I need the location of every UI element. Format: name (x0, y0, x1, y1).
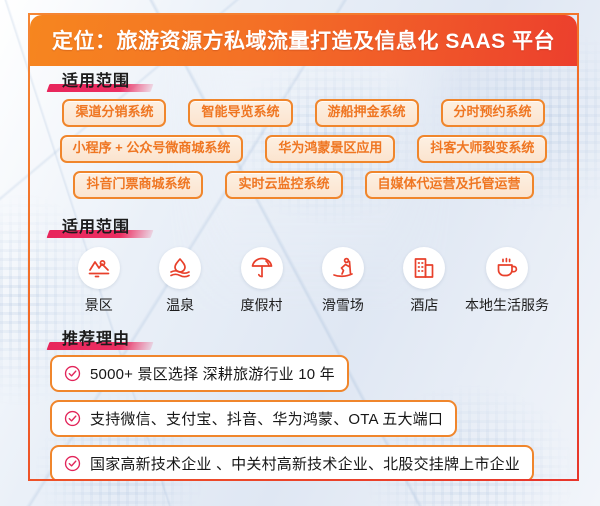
product-tag[interactable]: 智能导览系统 (188, 99, 292, 127)
skier-icon (322, 247, 364, 289)
product-tag-group: 渠道分销系统 智能导览系统 游船押金系统 分时预约系统 小程序 + 公众号微商城… (42, 99, 565, 199)
resort-parasol-icon (241, 247, 283, 289)
vertical-item-scenic-area[interactable]: 景区 (58, 247, 139, 315)
vertical-item-hot-spring[interactable]: 温泉 (139, 247, 220, 315)
product-tag[interactable]: 小程序 + 公众号微商城系统 (60, 135, 244, 163)
section-heading-label: 适用范围 (62, 73, 130, 90)
check-circle-icon (64, 410, 81, 427)
product-tag[interactable]: 抖客大师裂变系统 (417, 135, 547, 163)
product-tag[interactable]: 自媒体代运营及托管运营 (365, 171, 534, 199)
reason-text: 国家高新技术企业 、中关村高新技术企业、北股交挂牌上市企业 (90, 453, 520, 474)
vertical-icon-row: 景区 温泉 (42, 241, 565, 315)
vertical-item-label: 本地生活服务 (465, 295, 549, 315)
product-tag[interactable]: 游船押金系统 (315, 99, 419, 127)
vertical-item-label: 温泉 (166, 295, 194, 315)
section-heading-scope-products: 适用范围 (54, 67, 140, 91)
vertical-item-label: 滑雪场 (322, 295, 364, 315)
vertical-item-resort[interactable]: 度假村 (221, 247, 302, 315)
vertical-item-local-services[interactable]: 本地生活服务 (465, 247, 549, 315)
reason-item[interactable]: 5000+ 景区选择 深耕旅游行业 10 年 (50, 355, 349, 392)
section-heading-label: 推荐理由 (62, 331, 130, 348)
product-tag[interactable]: 渠道分销系统 (62, 99, 166, 127)
product-tag[interactable]: 分时预约系统 (441, 99, 545, 127)
hot-spring-icon (159, 247, 201, 289)
vertical-item-label: 度假村 (241, 295, 283, 315)
reason-text: 5000+ 景区选择 深耕旅游行业 10 年 (90, 363, 335, 384)
reason-list: 5000+ 景区选择 深耕旅游行业 10 年 支持微信、支付宝、抖音、华为鸿蒙、… (42, 355, 565, 481)
reason-item[interactable]: 支持微信、支付宝、抖音、华为鸿蒙、OTA 五大端口 (50, 400, 457, 437)
section-heading-reasons: 推荐理由 (54, 325, 140, 349)
card-body: 适用范围 渠道分销系统 智能导览系统 游船押金系统 分时预约系统 小程序 + 公… (30, 67, 577, 479)
tag-row: 抖音门票商城系统 实时云监控系统 自媒体代运营及托管运营 (42, 171, 565, 199)
vertical-item-ski-resort[interactable]: 滑雪场 (302, 247, 383, 315)
coffee-cup-icon (486, 247, 528, 289)
check-circle-icon (64, 365, 81, 382)
vertical-item-hotel[interactable]: 酒店 (384, 247, 465, 315)
product-tag[interactable]: 华为鸿蒙景区应用 (265, 135, 395, 163)
vertical-item-label: 景区 (85, 295, 113, 315)
check-circle-icon (64, 455, 81, 472)
tag-row: 小程序 + 公众号微商城系统 华为鸿蒙景区应用 抖客大师裂变系统 (42, 135, 565, 163)
main-card: 定位：旅游资源方私域流量打造及信息化 SAAS 平台 适用范围 渠道分销系统 智… (28, 13, 579, 481)
product-tag[interactable]: 抖音门票商城系统 (73, 171, 203, 199)
section-heading-scope-verticals: 适用范围 (54, 213, 140, 237)
hotel-building-icon (403, 247, 445, 289)
vertical-item-label: 酒店 (410, 295, 438, 315)
poster-page: 定位：旅游资源方私域流量打造及信息化 SAAS 平台 适用范围 渠道分销系统 智… (0, 0, 600, 506)
mountain-icon (78, 247, 120, 289)
header-bar: 定位：旅游资源方私域流量打造及信息化 SAAS 平台 (29, 14, 578, 66)
section-heading-label: 适用范围 (62, 219, 130, 236)
reason-item[interactable]: 国家高新技术企业 、中关村高新技术企业、北股交挂牌上市企业 (50, 445, 534, 481)
tag-row: 渠道分销系统 智能导览系统 游船押金系统 分时预约系统 (42, 99, 565, 127)
product-tag[interactable]: 实时云监控系统 (225, 171, 342, 199)
reason-text: 支持微信、支付宝、抖音、华为鸿蒙、OTA 五大端口 (90, 408, 443, 429)
page-title: 定位：旅游资源方私域流量打造及信息化 SAAS 平台 (52, 25, 555, 55)
